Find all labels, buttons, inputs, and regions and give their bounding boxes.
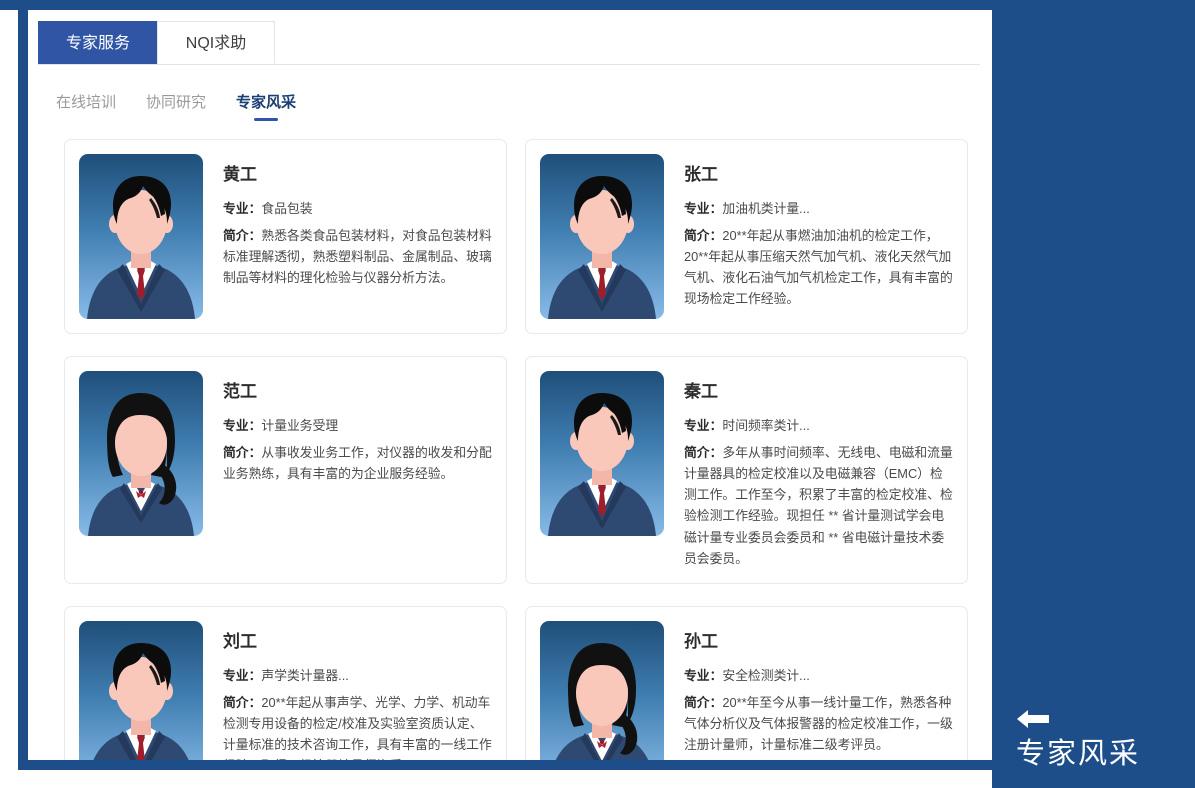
frame-border-left bbox=[18, 10, 28, 770]
major-label: 专业： bbox=[223, 201, 261, 216]
expert-card[interactable]: 张工专业：加油机类计量...简介：20**年起从事燃油加油机的检定工作，20**… bbox=[525, 139, 968, 334]
major-value: 声学类计量器... bbox=[261, 668, 348, 683]
primary-tab-bar: 专家服务NQI求助 bbox=[38, 21, 980, 65]
expert-info: 黄工专业：食品包装简介：熟悉各类食品包装材料，对食品包装材料标准理解透彻，熟悉塑… bbox=[223, 154, 492, 288]
expert-info: 孙工专业：安全检测类计...简介：20**年至今从事一线计量工作，熟悉各种气体分… bbox=[684, 621, 953, 755]
intro-label: 简介： bbox=[223, 695, 261, 710]
major-value: 加油机类计量... bbox=[722, 201, 809, 216]
tab-1[interactable]: 专家服务 bbox=[38, 21, 158, 64]
expert-card[interactable]: 黄工专业：食品包装简介：熟悉各类食品包装材料，对食品包装材料标准理解透彻，熟悉塑… bbox=[64, 139, 507, 334]
expert-card[interactable]: 范工专业：计量业务受理简介：从事收发业务工作，对仪器的收发和分配业务熟练，具有丰… bbox=[64, 356, 507, 584]
expert-info: 范工专业：计量业务受理简介：从事收发业务工作，对仪器的收发和分配业务熟练，具有丰… bbox=[223, 371, 492, 484]
frame-border-bottom bbox=[18, 760, 992, 770]
expert-name: 黄工 bbox=[223, 160, 492, 185]
expert-major-row: 专业：声学类计量器... bbox=[223, 665, 492, 686]
major-value: 时间频率类计... bbox=[722, 418, 809, 433]
expert-intro-row: 简介：熟悉各类食品包装材料，对食品包装材料标准理解透彻，熟悉塑料制品、金属制品、… bbox=[223, 225, 492, 288]
expert-intro-row: 简介：多年从事时间频率、无线电、电磁和流量计量器具的检定校准以及电磁兼容（EMC… bbox=[684, 442, 953, 569]
screen-root: 专家服务NQI求助 在线培训协同研究专家风采 黄工专业：食品包装简介：熟悉各类食… bbox=[0, 0, 1195, 788]
intro-label: 简介： bbox=[684, 695, 722, 710]
expert-major-row: 专业：食品包装 bbox=[223, 198, 492, 219]
expert-card[interactable]: 秦工专业：时间频率类计...简介：多年从事时间频率、无线电、电磁和流量计量器具的… bbox=[525, 356, 968, 584]
expert-avatar-male-icon bbox=[540, 371, 664, 536]
major-label: 专业： bbox=[223, 668, 261, 683]
expert-intro-row: 简介：从事收发业务工作，对仪器的收发和分配业务熟练，具有丰富的为企业服务经验。 bbox=[223, 442, 492, 484]
expert-intro-row: 简介：20**年至今从事一线计量工作，熟悉各种气体分析仪及气体报警器的检定校准工… bbox=[684, 692, 953, 755]
side-panel-label: 专家风采 bbox=[1016, 738, 1176, 770]
subtab-1[interactable]: 在线培训 bbox=[56, 91, 116, 121]
expert-intro-row: 简介：20**年起从事声学、光学、力学、机动车检测专用设备的检定/校准及实验室资… bbox=[223, 692, 492, 760]
intro-label: 简介： bbox=[223, 445, 261, 460]
main-content: 专家服务NQI求助 在线培训协同研究专家风采 黄工专业：食品包装简介：熟悉各类食… bbox=[28, 10, 992, 760]
major-label: 专业： bbox=[684, 418, 722, 433]
subtab-2[interactable]: 协同研究 bbox=[146, 91, 206, 121]
expert-name: 范工 bbox=[223, 377, 492, 402]
expert-major-row: 专业：加油机类计量... bbox=[684, 198, 953, 219]
expert-avatar-male-icon bbox=[540, 154, 664, 319]
expert-card[interactable]: 孙工专业：安全检测类计...简介：20**年至今从事一线计量工作，熟悉各种气体分… bbox=[525, 606, 968, 760]
major-value: 食品包装 bbox=[261, 201, 312, 216]
major-value: 计量业务受理 bbox=[261, 418, 338, 433]
side-panel-content: 专家风采 bbox=[1016, 708, 1176, 770]
intro-value: 从事收发业务工作，对仪器的收发和分配业务熟练，具有丰富的为企业服务经验。 bbox=[223, 445, 492, 481]
major-label: 专业： bbox=[223, 418, 261, 433]
intro-label: 简介： bbox=[684, 445, 722, 460]
intro-label: 简介： bbox=[223, 228, 261, 243]
intro-label: 简介： bbox=[684, 228, 722, 243]
intro-value: 20**年起从事燃油加油机的检定工作，20**年起从事压缩天然气加气机、液化天然… bbox=[684, 228, 953, 306]
expert-info: 秦工专业：时间频率类计...简介：多年从事时间频率、无线电、电磁和流量计量器具的… bbox=[684, 371, 953, 569]
major-label: 专业： bbox=[684, 201, 722, 216]
expert-intro-row: 简介：20**年起从事燃油加油机的检定工作，20**年起从事压缩天然气加气机、液… bbox=[684, 225, 953, 309]
arrow-left-icon[interactable] bbox=[1016, 708, 1050, 730]
frame-border-top bbox=[0, 0, 1195, 10]
expert-name: 孙工 bbox=[684, 627, 953, 652]
secondary-tab-bar: 在线培训协同研究专家风采 bbox=[56, 91, 992, 121]
intro-value: 熟悉各类食品包装材料，对食品包装材料标准理解透彻，熟悉塑料制品、金属制品、玻璃制… bbox=[223, 228, 492, 285]
major-label: 专业： bbox=[684, 668, 722, 683]
intro-value: 20**年至今从事一线计量工作，熟悉各种气体分析仪及气体报警器的检定校准工作，一… bbox=[684, 695, 953, 752]
intro-value: 多年从事时间频率、无线电、电磁和流量计量器具的检定校准以及电磁兼容（EMC）检测… bbox=[684, 445, 953, 566]
expert-name: 刘工 bbox=[223, 627, 492, 652]
intro-value: 20**年起从事声学、光学、力学、机动车检测专用设备的检定/校准及实验室资质认定… bbox=[223, 695, 492, 760]
major-value: 安全检测类计... bbox=[722, 668, 809, 683]
expert-avatar-female-icon bbox=[540, 621, 664, 760]
expert-avatar-male-icon bbox=[79, 621, 203, 760]
expert-card-grid: 黄工专业：食品包装简介：熟悉各类食品包装材料，对食品包装材料标准理解透彻，熟悉塑… bbox=[64, 139, 968, 760]
expert-info: 刘工专业：声学类计量器...简介：20**年起从事声学、光学、力学、机动车检测专… bbox=[223, 621, 492, 760]
expert-avatar-male-icon bbox=[79, 154, 203, 319]
expert-name: 张工 bbox=[684, 160, 953, 185]
expert-major-row: 专业：时间频率类计... bbox=[684, 415, 953, 436]
tab-2[interactable]: NQI求助 bbox=[157, 21, 275, 64]
expert-major-row: 专业：安全检测类计... bbox=[684, 665, 953, 686]
expert-info: 张工专业：加油机类计量...简介：20**年起从事燃油加油机的检定工作，20**… bbox=[684, 154, 953, 310]
expert-card[interactable]: 刘工专业：声学类计量器...简介：20**年起从事声学、光学、力学、机动车检测专… bbox=[64, 606, 507, 760]
expert-name: 秦工 bbox=[684, 377, 953, 402]
subtab-3[interactable]: 专家风采 bbox=[236, 91, 296, 121]
expert-major-row: 专业：计量业务受理 bbox=[223, 415, 492, 436]
expert-avatar-female-icon bbox=[79, 371, 203, 536]
side-panel[interactable]: 专家风采 bbox=[992, 10, 1195, 788]
